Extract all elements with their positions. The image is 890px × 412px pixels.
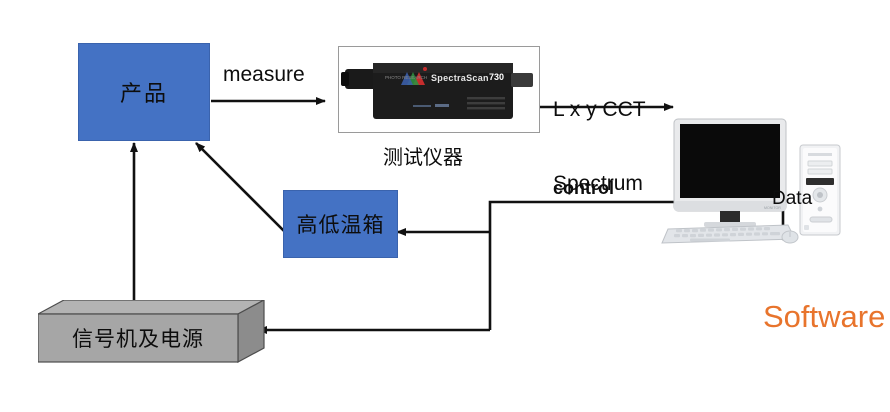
node-signal-power[interactable]: 信号机及电源 bbox=[38, 300, 268, 362]
annotation-software: Software bbox=[763, 299, 885, 335]
node-product-label: 产品 bbox=[120, 76, 168, 108]
node-instrument-caption: 测试仪器 bbox=[383, 141, 463, 170]
arrow-chamber-to-product bbox=[196, 143, 285, 232]
node-computer[interactable]: MONITOR bbox=[660, 117, 845, 245]
svg-text:730: 730 bbox=[489, 72, 504, 82]
node-chamber-label: 高低温箱 bbox=[297, 209, 385, 239]
edge-label-control: control bbox=[553, 178, 614, 199]
edge-label-measure: measure bbox=[223, 63, 305, 87]
svg-text:PHOTO RESEARCH: PHOTO RESEARCH bbox=[385, 75, 427, 80]
edge-label-output-line1: L x y CCT bbox=[553, 98, 646, 123]
node-chamber[interactable]: 高低温箱 bbox=[283, 190, 398, 258]
spectroradiometer-illustration: SpectraScan 730 PHOTO RESEARCH bbox=[339, 47, 539, 132]
node-signal-power-label: 信号机及电源 bbox=[38, 314, 238, 362]
edge-label-output: L x y CCT Spectrum bbox=[553, 48, 646, 246]
svg-text:SpectraScan: SpectraScan bbox=[431, 73, 489, 83]
node-product[interactable]: 产品 bbox=[78, 43, 210, 141]
diagram-canvas: 产品 measure SpectraScan 730 PHOTO RESEARC… bbox=[0, 0, 890, 412]
node-instrument-photo[interactable]: SpectraScan 730 PHOTO RESEARCH bbox=[338, 46, 540, 133]
computer-illustration: MONITOR bbox=[660, 117, 845, 245]
edge-label-data: Data bbox=[772, 188, 812, 210]
